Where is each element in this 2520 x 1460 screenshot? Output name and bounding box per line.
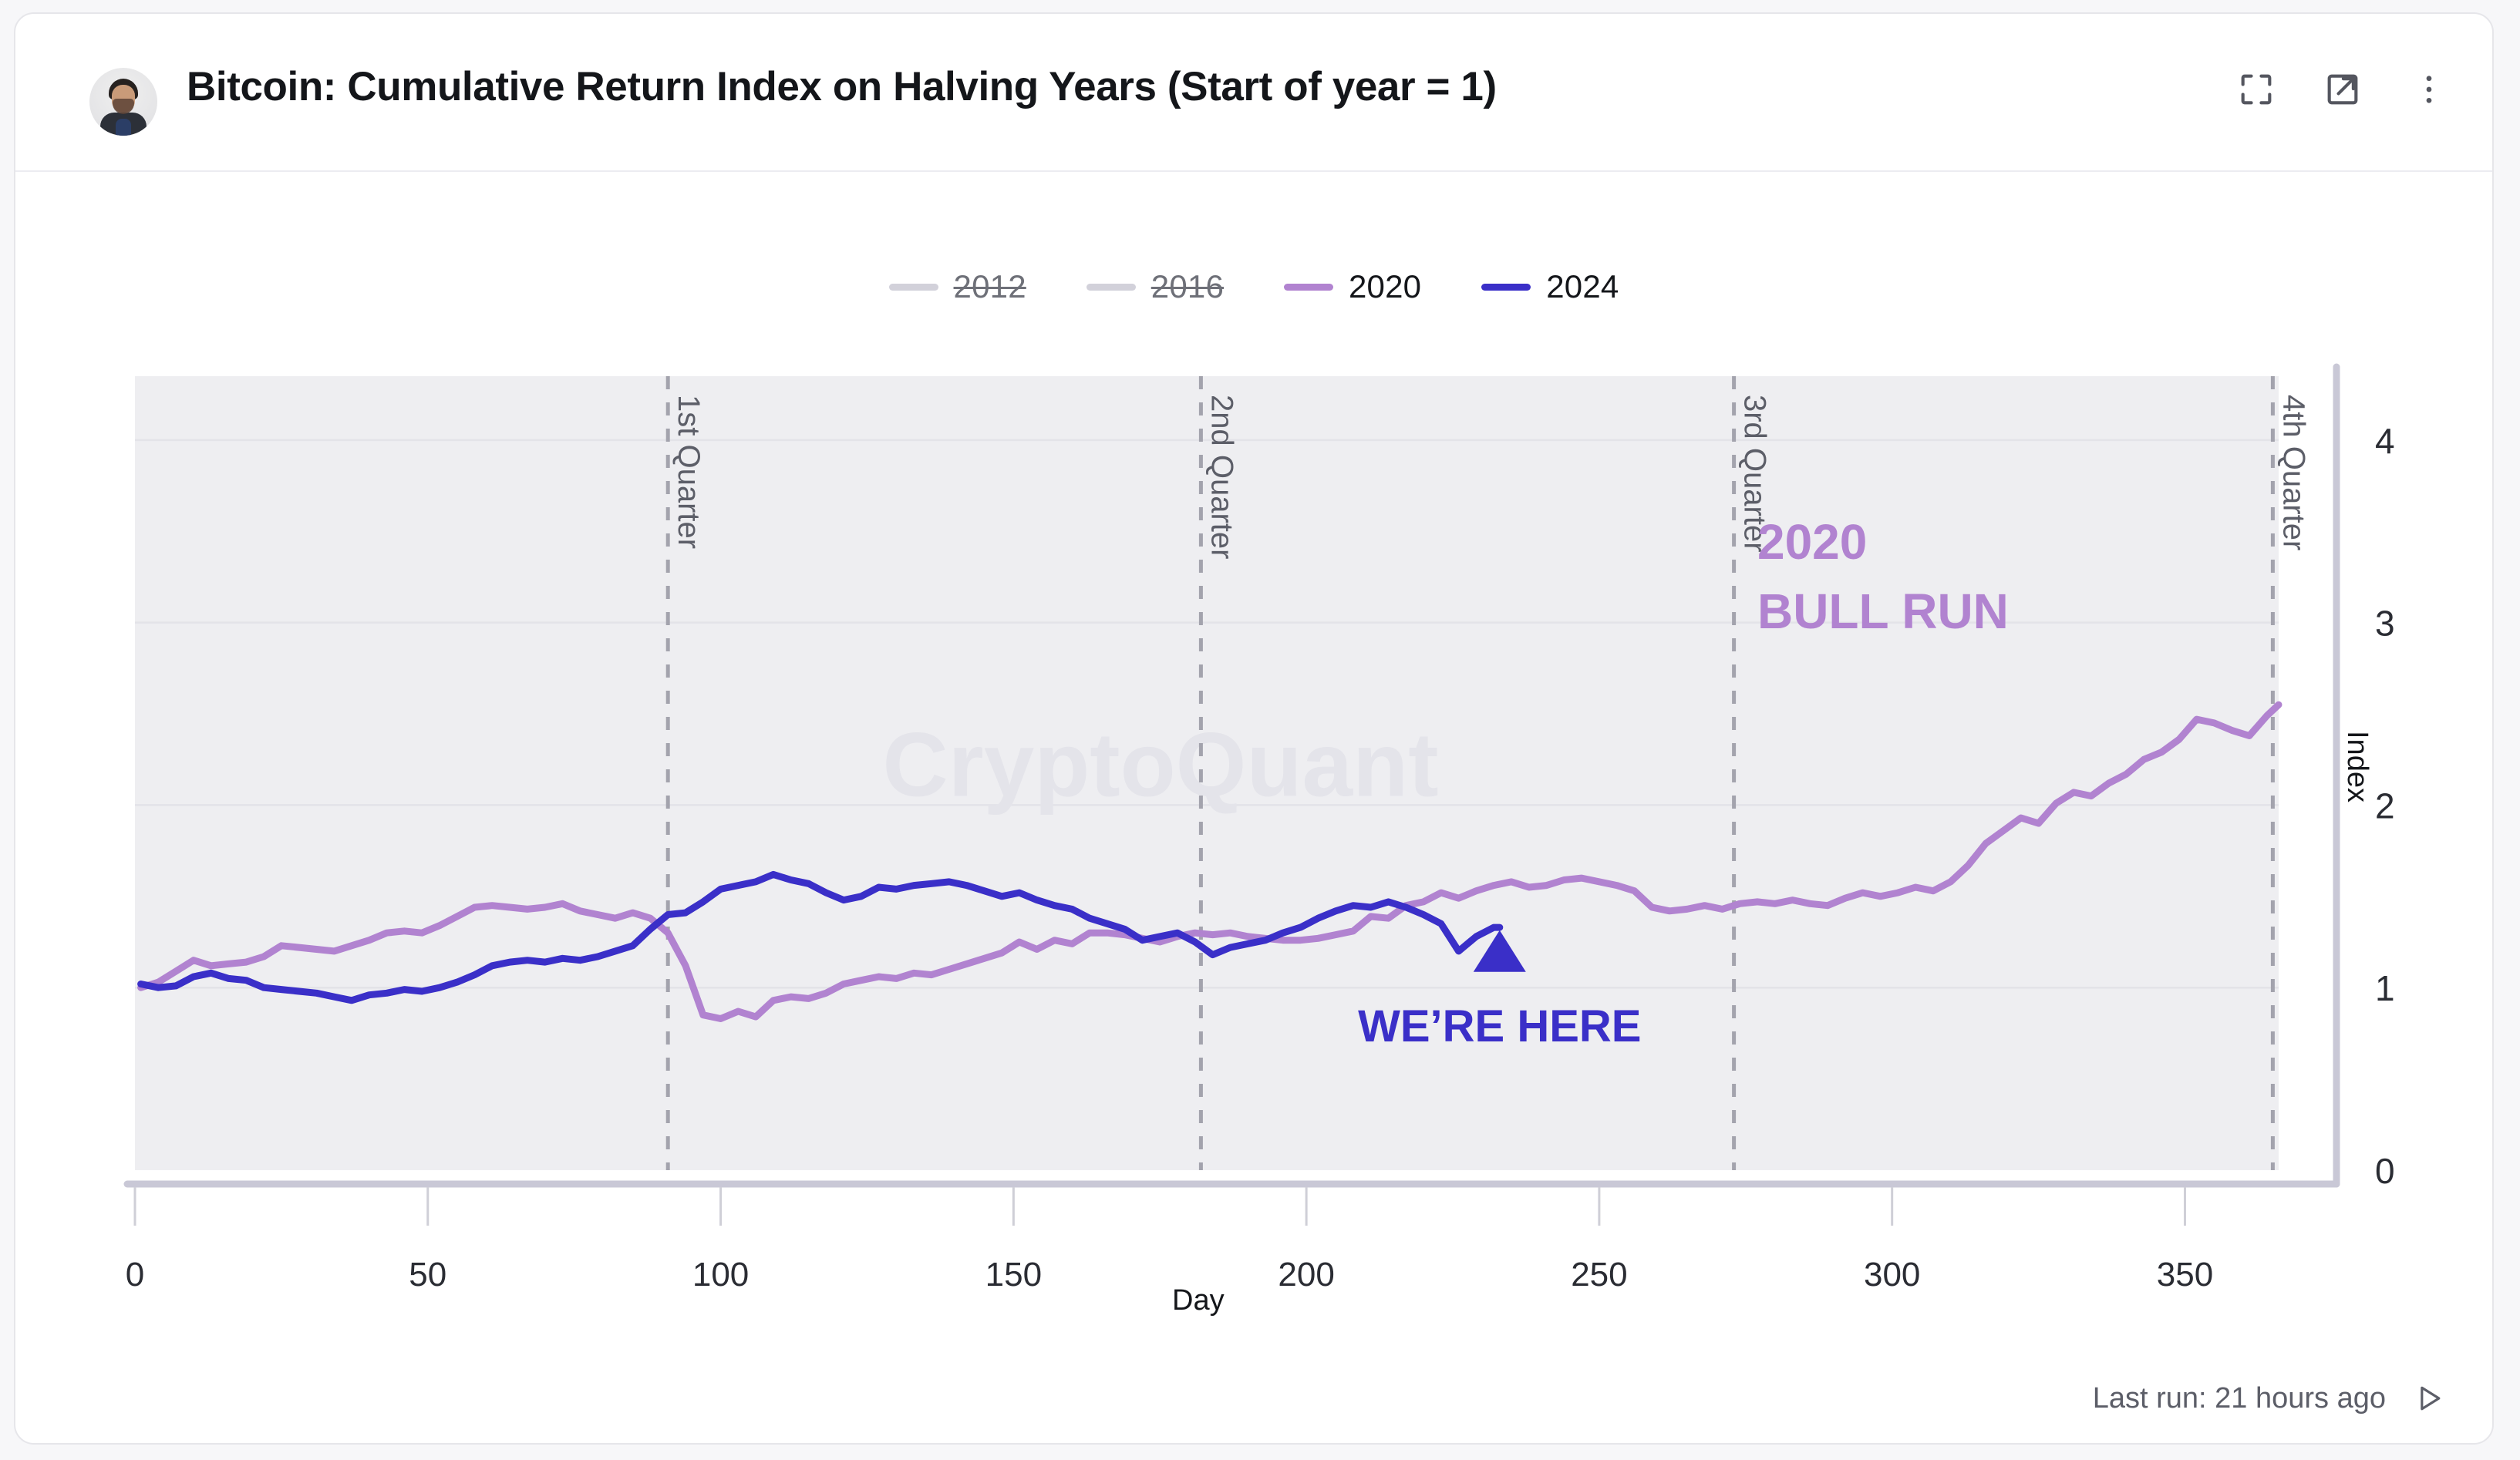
card-footer: Last run: 21 hours ago bbox=[2093, 1381, 2446, 1415]
quarter-label: 2nd Quarter bbox=[1204, 395, 1238, 559]
y-tick-label: 4 bbox=[2375, 421, 2395, 461]
x-tick-label: 250 bbox=[1571, 1256, 1627, 1293]
chart-card: Bitcoin: Cumulative Return Index on Halv… bbox=[14, 12, 2494, 1445]
bull-run-annotation-line2: BULL RUN bbox=[1757, 584, 2009, 639]
run-play-icon[interactable] bbox=[2412, 1381, 2446, 1415]
x-tick-label: 300 bbox=[1864, 1256, 1920, 1293]
bull-run-annotation-line1: 2020 bbox=[1757, 514, 1867, 570]
were-here-label: WE’RE HERE bbox=[1358, 1001, 1641, 1051]
x-axis-title: Day bbox=[1172, 1284, 1225, 1317]
x-tick-label: 0 bbox=[126, 1256, 144, 1293]
x-tick-label: 200 bbox=[1278, 1256, 1334, 1293]
y-tick-label: 2 bbox=[2375, 786, 2395, 826]
x-tick-label: 100 bbox=[692, 1256, 749, 1293]
y-tick-label: 1 bbox=[2375, 968, 2395, 1008]
x-tick-label: 350 bbox=[2157, 1256, 2213, 1293]
y-tick-label: 0 bbox=[2375, 1151, 2395, 1191]
y-tick-label: 3 bbox=[2375, 604, 2395, 644]
chart-svg: CryptoQuant1st Quarter2nd Quarter3rd Qua… bbox=[15, 14, 2494, 1445]
watermark: CryptoQuant bbox=[882, 715, 1438, 816]
x-tick-label: 150 bbox=[985, 1256, 1042, 1293]
y-axis-title: Index bbox=[2340, 731, 2373, 802]
quarter-label: 1st Quarter bbox=[672, 395, 706, 549]
last-run-status: Last run: 21 hours ago bbox=[2093, 1382, 2386, 1415]
quarter-label: 4th Quarter bbox=[2276, 395, 2310, 550]
x-tick-label: 50 bbox=[409, 1256, 446, 1293]
chart-plot-area: CryptoQuant1st Quarter2nd Quarter3rd Qua… bbox=[15, 14, 2492, 1443]
